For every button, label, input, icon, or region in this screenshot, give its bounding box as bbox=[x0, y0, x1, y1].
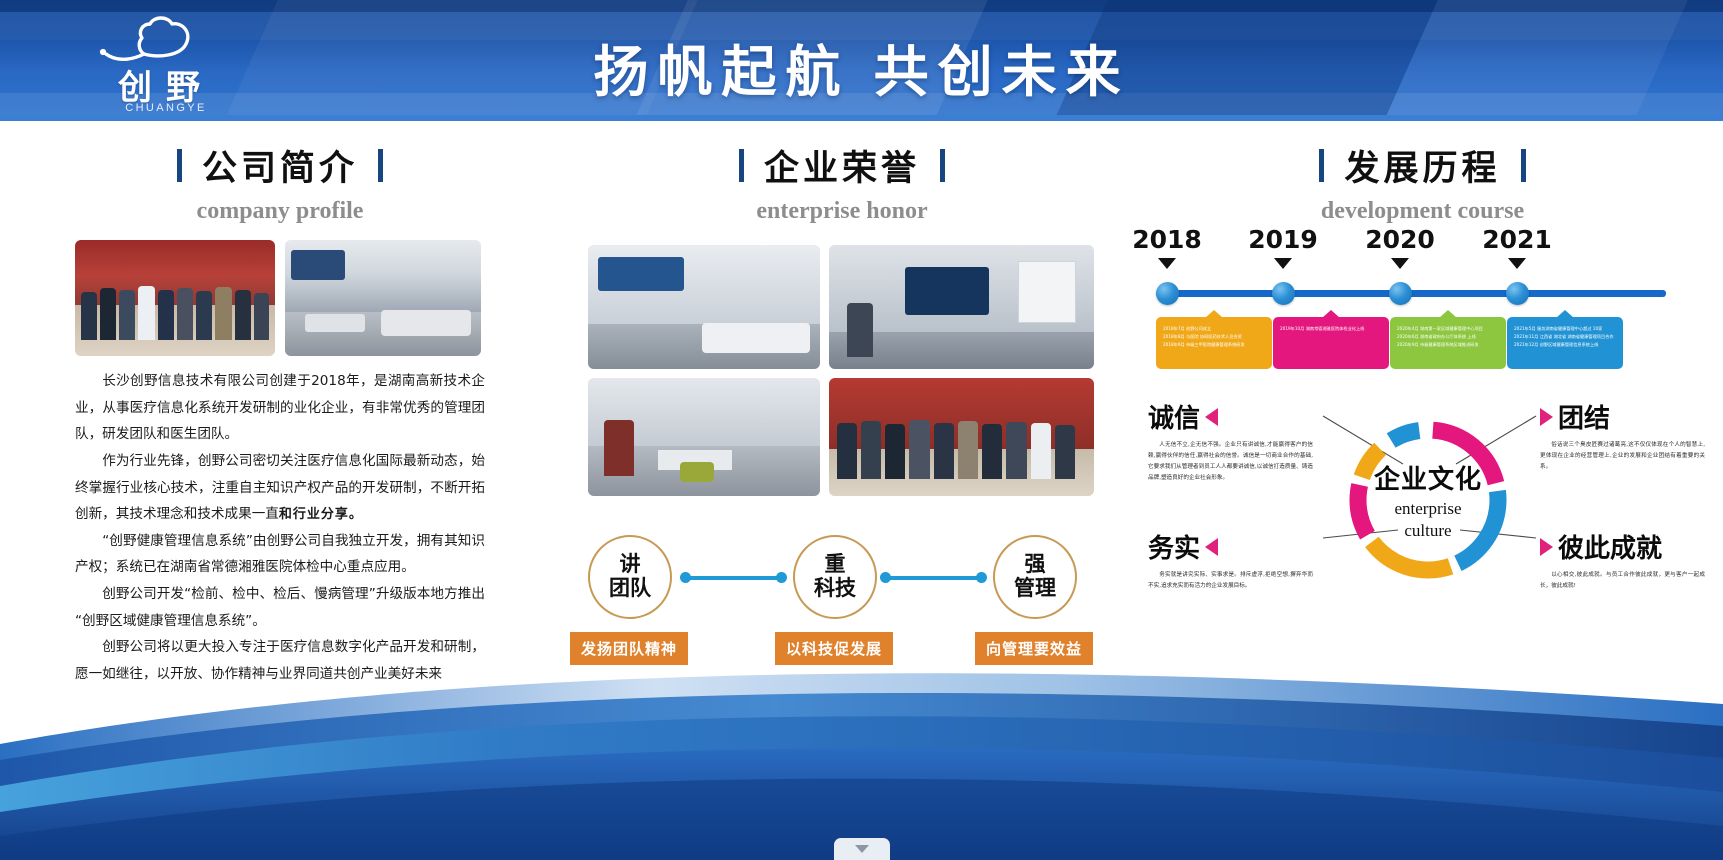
process-dot-left-1 bbox=[680, 572, 691, 583]
photo-company-sign bbox=[598, 257, 684, 291]
photo-person bbox=[847, 303, 873, 357]
process-circle-line2: 团队 bbox=[609, 577, 651, 601]
process-circle-line1: 讲 bbox=[620, 553, 641, 577]
caret-down-icon bbox=[1158, 258, 1176, 269]
timeline-year-2021: 2021 bbox=[1462, 225, 1572, 269]
timeline-year-label: 2018 bbox=[1132, 225, 1202, 254]
culture-item-title-row: 团结 bbox=[1540, 398, 1705, 435]
triangle-left-icon bbox=[1205, 408, 1218, 426]
photo-figure bbox=[885, 424, 905, 479]
process-diagram: 讲 团队 重 科技 强 管理 发扬团队精神 以科技促发展 向管理要效益 bbox=[588, 535, 1096, 655]
heading-bar-left bbox=[1319, 149, 1324, 182]
timeline-year-label: 2020 bbox=[1365, 225, 1435, 254]
timeline-card-line: 2021年11月 江西省 湖北省 湖南省健康管理项目合作 bbox=[1514, 333, 1616, 341]
timeline-card-2021: 2021年5月 服务湖南省健康管理中心超过 10家 2021年11月 江西省 湖… bbox=[1507, 317, 1623, 369]
heading-bar-right bbox=[940, 149, 945, 182]
company-profile-column: 长沙创野信息技术有限公司创建于2018年，是湖南高新技术企业，从事医疗信息化系统… bbox=[75, 240, 485, 688]
caret-down-icon bbox=[1274, 258, 1292, 269]
photo-figure bbox=[837, 423, 857, 479]
process-circle-line2: 科技 bbox=[814, 577, 856, 601]
culture-center-label: 企业文化 enterprise culture bbox=[1344, 416, 1512, 584]
timeline-year-label: 2021 bbox=[1482, 225, 1552, 254]
chevron-down-icon bbox=[855, 845, 869, 853]
culture-donut-ring: 企业文化 enterprise culture bbox=[1344, 416, 1512, 584]
process-dot-right-2 bbox=[976, 572, 987, 583]
timeline-card-line: 2020年4月 湖南第一家区域健康管理中心项目 bbox=[1397, 325, 1499, 333]
profile-handwriting-note: 和行业分享。 bbox=[279, 506, 363, 521]
timeline-card-line: 2020年6月 湖南省政府办公厅体系统 上线 bbox=[1397, 333, 1499, 341]
triangle-right-icon bbox=[1540, 538, 1553, 556]
culture-item-mutual-achievement: 彼此成就 以心相交,彼此成就。与员工合作彼此成就，更与客户一起成长，彼此成就! bbox=[1540, 528, 1705, 592]
photo-figure bbox=[81, 292, 97, 340]
triangle-right-icon bbox=[1540, 408, 1553, 426]
heading-bar-left bbox=[177, 149, 182, 182]
photo-table bbox=[305, 314, 365, 332]
process-dot-left-2 bbox=[880, 572, 891, 583]
heading-bar-right bbox=[1521, 149, 1526, 182]
timeline-year-label: 2019 bbox=[1248, 225, 1318, 254]
culture-wall-poster: 创野 CHUANGYE 扬帆起航 共创未来 公司简介 company profi… bbox=[0, 0, 1723, 860]
section-heading-course: 发展历程 development course bbox=[1150, 140, 1695, 225]
photo-whiteboard bbox=[1018, 261, 1076, 323]
timeline-node-2020 bbox=[1389, 282, 1412, 305]
honor-photo-presentation bbox=[829, 245, 1094, 369]
process-dot-right-1 bbox=[776, 572, 787, 583]
culture-item-title: 彼此成就 bbox=[1558, 528, 1662, 565]
photo-figure bbox=[100, 288, 116, 340]
photo-sofa bbox=[702, 323, 810, 353]
section-title-en: development course bbox=[1150, 198, 1695, 225]
honor-photo-reception bbox=[588, 245, 820, 369]
timeline-years: 2018 2019 2020 2021 bbox=[1150, 225, 1695, 285]
photo-figure bbox=[934, 423, 954, 479]
honor-photo-grid bbox=[588, 245, 1096, 496]
culture-item-title: 务实 bbox=[1148, 528, 1200, 565]
process-circle-tech: 重 科技 bbox=[793, 535, 877, 619]
profile-paragraph-2: 作为行业先锋，创野公司密切关注医疗信息化国际最新动态，始终掌握行业核心技术，注重… bbox=[75, 448, 485, 528]
development-timeline: 2018 2019 2020 2021 2018年7月 创野公司成立 2018年… bbox=[1150, 225, 1695, 285]
photo-figure bbox=[177, 288, 193, 340]
timeline-card-line: 2021年12月 创野区域健康管理信息系统上线 bbox=[1514, 341, 1616, 349]
timeline-card-line: 2020年9月 市级健康管理系统区域推进研发 bbox=[1397, 341, 1499, 349]
enterprise-honor-column bbox=[588, 245, 1096, 496]
culture-item-pragmatism: 务实 务实就是讲究实际、实事求是。排斥虚浮,拒绝空想,摒弃华而不实,追求充实而有… bbox=[1148, 528, 1313, 592]
section-title-en: company profile bbox=[75, 198, 485, 225]
culture-item-title: 团结 bbox=[1558, 398, 1610, 435]
wave-graphic bbox=[0, 640, 1723, 860]
section-title-cn: 企业荣誉 bbox=[764, 140, 920, 191]
culture-item-unity: 团结 俗话说三个臭皮匠赛过诸葛亮,这不仅仅体现在个人的智慧上,更体现在企业的经营… bbox=[1540, 398, 1705, 473]
photo-person bbox=[604, 420, 634, 476]
process-circle-management: 强 管理 bbox=[993, 535, 1077, 619]
honor-photo-workspace bbox=[588, 378, 820, 496]
culture-center-en-line2: culture bbox=[1404, 521, 1451, 540]
process-circle-team: 讲 团队 bbox=[588, 535, 672, 619]
timeline-card-line: 2018年8月 与医院 协同医药技术人员合资 bbox=[1163, 333, 1265, 341]
photo-figure bbox=[196, 291, 212, 340]
profile-paragraph-4: 创野公司开发“检前、检中、检后、慢病管理”升级版本地方推出“创野区域健康管理信息… bbox=[75, 581, 485, 634]
culture-item-desc: 务实就是讲究实际、实事求是。排斥虚浮,拒绝空想,摒弃华而不实,追求充实而有活力的… bbox=[1148, 570, 1313, 592]
photo-figure bbox=[138, 286, 155, 340]
heading-bar-left bbox=[739, 149, 744, 182]
timeline-card-2019: 2019年10月 湖南常德湘雅医院体检业化上线 bbox=[1273, 317, 1389, 369]
poster-header: 创野 CHUANGYE 扬帆起航 共创未来 bbox=[0, 0, 1723, 121]
section-title-en: enterprise honor bbox=[588, 198, 1096, 225]
culture-center-cn: 企业文化 bbox=[1374, 459, 1482, 496]
photo-wall-sign bbox=[291, 250, 345, 280]
culture-item-integrity: 诚信 人无信不立,企无信不强。企业只有讲诚信,才能赢得客户的信赖,赢得伙伴的信任… bbox=[1148, 398, 1313, 484]
culture-item-desc: 俗话说三个臭皮匠赛过诸葛亮,这不仅仅体现在个人的智慧上,更体现在企业的经营管理上… bbox=[1540, 440, 1705, 473]
photo-figure bbox=[215, 287, 232, 340]
timeline-node-2021 bbox=[1506, 282, 1529, 305]
process-circle-line1: 强 bbox=[1025, 553, 1046, 577]
header-bottom-line bbox=[0, 115, 1723, 121]
timeline-year-2018: 2018 bbox=[1112, 225, 1222, 269]
profile-paragraph-1: 长沙创野信息技术有限公司创建于2018年，是湖南高新技术企业，从事医疗信息化系统… bbox=[75, 368, 485, 448]
photo-screen bbox=[905, 267, 989, 315]
photo-figure bbox=[235, 290, 251, 340]
photo-figure bbox=[1006, 422, 1027, 479]
section-heading-profile: 公司简介 company profile bbox=[75, 140, 485, 225]
footer-wave-decoration bbox=[0, 640, 1723, 860]
culture-item-title: 诚信 bbox=[1148, 398, 1200, 435]
timeline-year-2020: 2020 bbox=[1345, 225, 1455, 269]
timeline-card-line: 2019年10月 湖南常德湘雅医院体检业化上线 bbox=[1280, 325, 1382, 333]
process-connector-1 bbox=[683, 576, 783, 580]
process-circle-line2: 管理 bbox=[1014, 577, 1056, 601]
heading-bar-right bbox=[378, 149, 383, 182]
section-title-cn: 发展历程 bbox=[1344, 140, 1500, 191]
photo-figure bbox=[158, 290, 174, 340]
profile-photo-row bbox=[75, 240, 485, 356]
culture-item-desc: 人无信不立,企无信不强。企业只有讲诚信,才能赢得客户的信赖,赢得伙伴的信任,赢得… bbox=[1148, 440, 1313, 484]
timeline-card-line: 2018年9月 市级三甲医院健康管理系统研发 bbox=[1163, 341, 1265, 349]
photo-figure bbox=[958, 421, 978, 479]
culture-item-title-row: 诚信 bbox=[1148, 398, 1313, 435]
photo-figure bbox=[1031, 423, 1051, 479]
culture-item-title-row: 彼此成就 bbox=[1540, 528, 1705, 565]
photo-sofa bbox=[381, 310, 471, 336]
culture-center-en: enterprise culture bbox=[1394, 498, 1461, 541]
photo-figure bbox=[1055, 425, 1075, 479]
section-heading-honor: 企业荣誉 enterprise honor bbox=[588, 140, 1096, 225]
photo-figure bbox=[119, 290, 135, 340]
culture-center-en-line1: enterprise bbox=[1394, 499, 1461, 518]
timeline-node-2019 bbox=[1272, 282, 1295, 305]
photo-chair bbox=[680, 462, 714, 482]
timeline-card-2018: 2018年7月 创野公司成立 2018年8月 与医院 协同医药技术人员合资 20… bbox=[1156, 317, 1272, 369]
culture-item-title-row: 务实 bbox=[1148, 528, 1313, 565]
timeline-card-line: 2018年7月 创野公司成立 bbox=[1163, 325, 1265, 333]
photo-group-team bbox=[75, 240, 275, 356]
timeline-card-line: 2021年5月 服务湖南省健康管理中心超过 10家 bbox=[1514, 325, 1616, 333]
section-title-cn: 公司简介 bbox=[202, 140, 358, 191]
enterprise-culture-diagram: 企业文化 enterprise culture 诚信 人无信不立,企无信不强。企… bbox=[1148, 398, 1708, 628]
caret-down-icon bbox=[1508, 258, 1526, 269]
photo-figure bbox=[254, 293, 269, 340]
caret-down-icon bbox=[1391, 258, 1409, 269]
culture-item-desc: 以心相交,彼此成就。与员工合作彼此成就，更与客户一起成长，彼此成就! bbox=[1540, 570, 1705, 592]
profile-paragraph-3: “创野健康管理信息系统”由创野公司自我独立开发，拥有其知识产权；系统已在湖南省常… bbox=[75, 528, 485, 581]
process-connector-2 bbox=[883, 576, 983, 580]
photo-figure bbox=[982, 424, 1002, 479]
timeline-card-2020: 2020年4月 湖南第一家区域健康管理中心项目 2020年6月 湖南省政府办公厅… bbox=[1390, 317, 1506, 369]
scroll-down-button[interactable] bbox=[834, 838, 890, 860]
process-circle-line1: 重 bbox=[825, 553, 846, 577]
photo-figure bbox=[861, 421, 881, 479]
poster-title: 扬帆起航 共创未来 bbox=[0, 27, 1723, 107]
timeline-year-2019: 2019 bbox=[1228, 225, 1338, 269]
photo-figure bbox=[909, 420, 930, 479]
triangle-left-icon bbox=[1205, 538, 1218, 556]
photo-office-room bbox=[285, 240, 481, 356]
honor-photo-group bbox=[829, 378, 1094, 496]
timeline-node-2018 bbox=[1156, 282, 1179, 305]
